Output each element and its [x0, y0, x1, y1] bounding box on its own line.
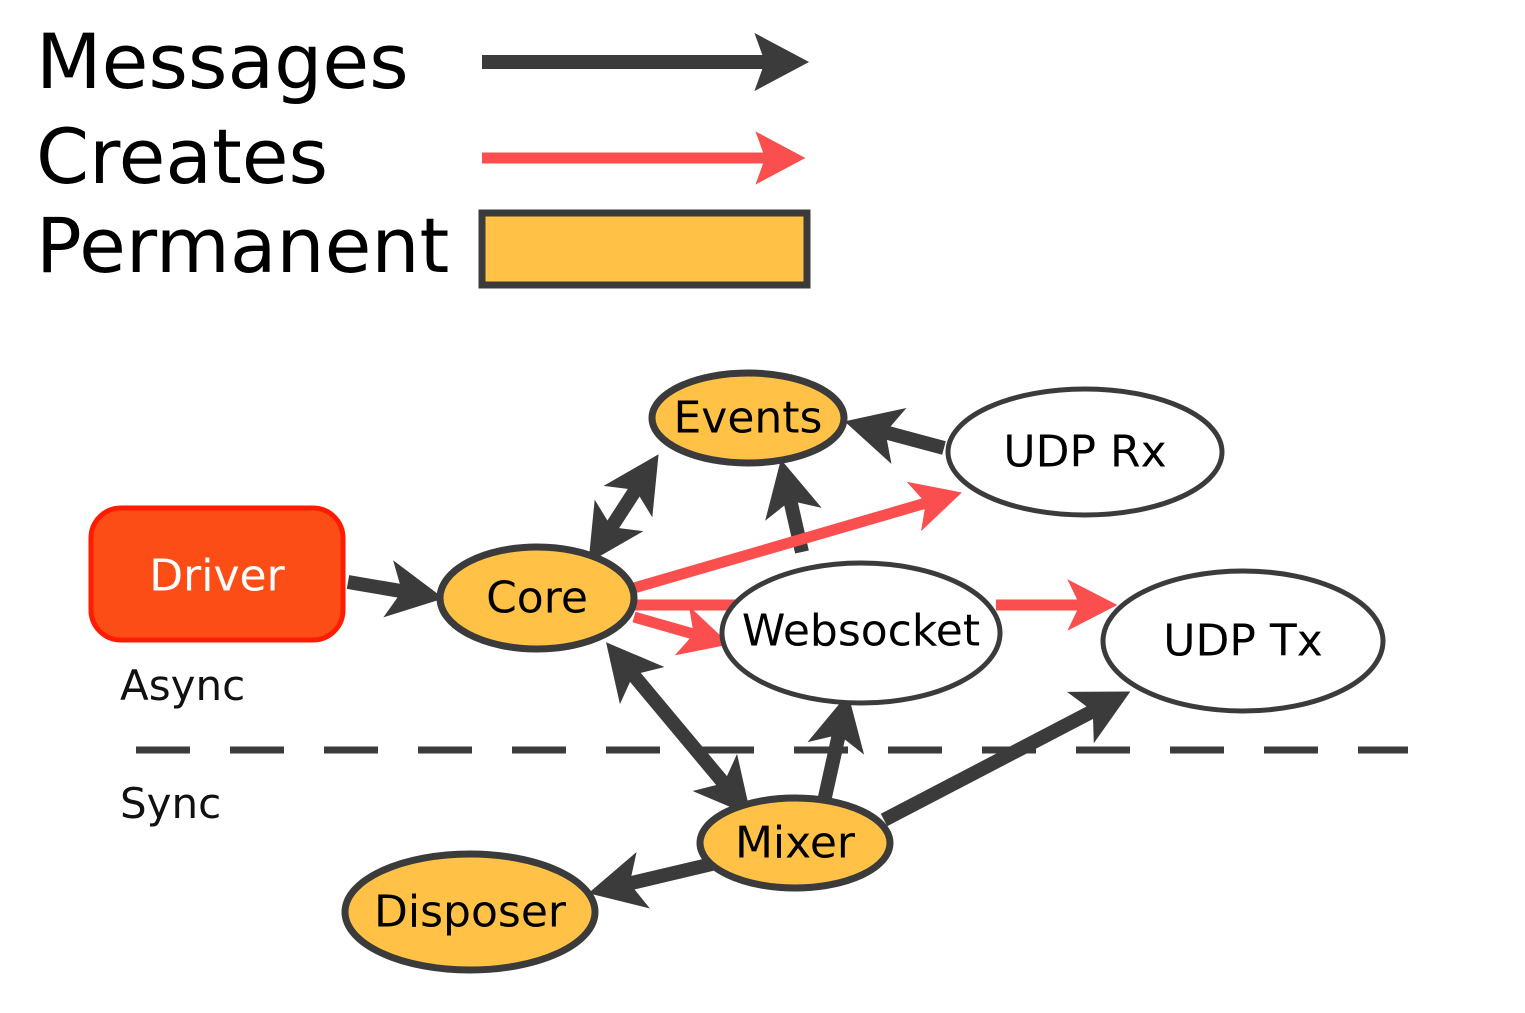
node-udp-rx-label: UDP Rx: [1003, 427, 1166, 478]
node-mixer[interactable]: Mixer: [700, 798, 890, 888]
node-events-label: Events: [674, 393, 823, 444]
legend: Messages Creates Permanent: [36, 17, 807, 290]
legend-label-permanent: Permanent: [36, 201, 449, 290]
legend-row-creates: Creates: [36, 112, 788, 201]
node-udp-tx[interactable]: UDP Tx: [1103, 571, 1383, 711]
legend-label-messages: Messages: [36, 17, 409, 106]
node-driver[interactable]: Driver: [91, 508, 343, 640]
node-disposer-label: Disposer: [374, 887, 567, 938]
node-udp-tx-label: UDP Tx: [1163, 616, 1323, 667]
edge-core-mixer: [615, 653, 742, 805]
legend-row-permanent: Permanent: [36, 201, 807, 290]
zone-label-sync: Sync: [120, 779, 221, 828]
yellow-swatch-icon: [482, 213, 807, 285]
node-core[interactable]: Core: [440, 547, 634, 649]
node-websocket[interactable]: Websocket: [722, 563, 1000, 703]
node-events[interactable]: Events: [652, 373, 844, 463]
edge-mixer-to-websocket: [823, 707, 845, 806]
node-mixer-label: Mixer: [735, 818, 856, 869]
edge-mixer-to-disposer: [602, 864, 712, 890]
nodes-layer: Driver Websocket UDP Rx UDP Tx Core: [91, 373, 1383, 970]
edge-driver-to-core: [348, 582, 430, 596]
legend-label-creates: Creates: [36, 112, 328, 201]
edge-udprx-to-events: [858, 425, 944, 448]
legend-row-messages: Messages: [36, 17, 790, 106]
architecture-diagram: Messages Creates Permanent Async Sync: [0, 0, 1525, 1013]
edge-mixer-to-udptx: [884, 698, 1118, 820]
edge-core-events: [596, 466, 651, 551]
node-driver-label: Driver: [149, 551, 285, 602]
node-udp-rx[interactable]: UDP Rx: [948, 389, 1222, 515]
node-core-label: Core: [486, 573, 588, 624]
edge-core-creates-websocket: [634, 617, 718, 641]
node-disposer[interactable]: Disposer: [345, 854, 595, 970]
node-websocket-label: Websocket: [742, 606, 980, 657]
zone-label-async: Async: [120, 661, 245, 710]
